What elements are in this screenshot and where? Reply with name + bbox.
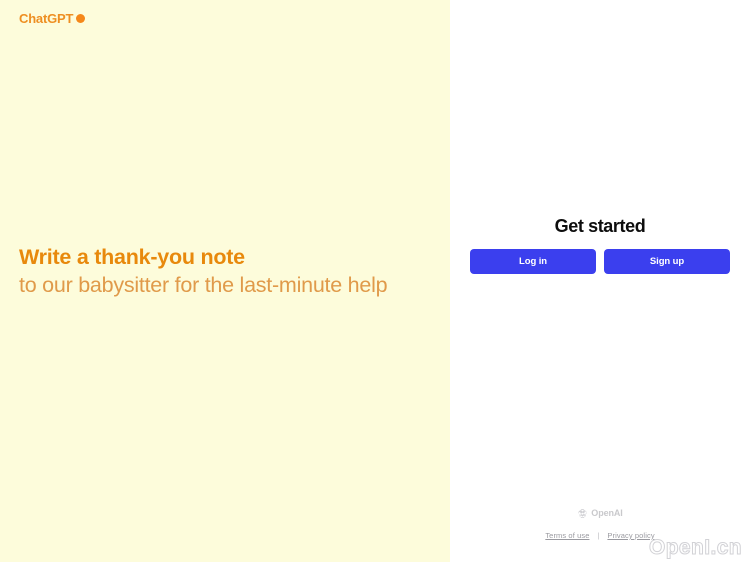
filled-circle-icon xyxy=(76,14,85,23)
chatgpt-brand-logo: ChatGPT xyxy=(19,12,85,25)
terms-of-use-link[interactable]: Terms of use xyxy=(545,531,589,540)
promo-headline: Write a thank-you note to our babysitter… xyxy=(19,243,419,299)
legal-links: Terms of use | Privacy policy xyxy=(545,531,654,540)
promo-panel: ChatGPT Write a thank-you note to our ba… xyxy=(0,0,450,562)
get-started-block: Get started Log in Sign up xyxy=(450,214,750,274)
promo-headline-strong: Write a thank-you note xyxy=(19,243,419,271)
footer: OpenAI Terms of use | Privacy policy xyxy=(450,508,750,540)
signup-button[interactable]: Sign up xyxy=(604,249,730,274)
brand-name: ChatGPT xyxy=(19,12,73,25)
openai-blossom-icon xyxy=(577,508,588,519)
auth-buttons: Log in Sign up xyxy=(470,249,730,274)
privacy-policy-link[interactable]: Privacy policy xyxy=(607,531,654,540)
page-title: Get started xyxy=(555,214,646,238)
legal-separator: | xyxy=(597,531,599,540)
promo-headline-rest: to our babysitter for the last-minute he… xyxy=(19,271,419,299)
auth-panel: Get started Log in Sign up OpenAI Terms … xyxy=(450,0,750,562)
chatgpt-welcome-page: ChatGPT Write a thank-you note to our ba… xyxy=(0,0,750,562)
login-button[interactable]: Log in xyxy=(470,249,596,274)
openai-logo: OpenAI xyxy=(577,508,622,519)
openai-wordmark: OpenAI xyxy=(591,509,622,518)
